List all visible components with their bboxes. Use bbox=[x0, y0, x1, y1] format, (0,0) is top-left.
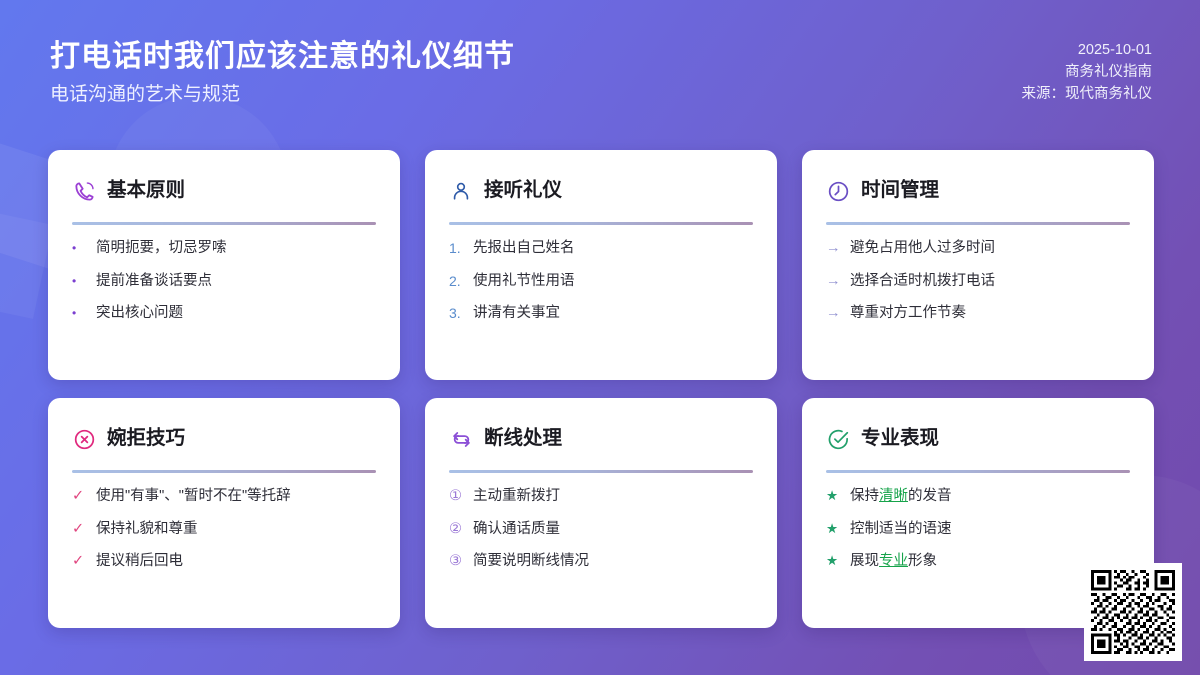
list-text: 提议稍后回电 bbox=[96, 552, 183, 572]
list-text: 讲清有关事宜 bbox=[473, 304, 560, 324]
list-item: •简明扼要，切忌罗嗦 bbox=[72, 239, 376, 259]
qr-code[interactable] bbox=[1084, 563, 1182, 661]
list-item: ②确认通话质量 bbox=[449, 520, 753, 540]
list-marker: ★ bbox=[826, 552, 841, 570]
card-grid: 基本原则 •简明扼要，切忌罗嗦 •提前准备谈话要点 •突出核心问题 接听礼仪 bbox=[48, 150, 1154, 628]
list-text: 选择合适时机拨打电话 bbox=[850, 272, 995, 292]
list-text: 使用"有事"、"暂时不在"等托辞 bbox=[96, 487, 291, 507]
list-marker: ✓ bbox=[72, 487, 87, 507]
list-item: 1.先报出自己姓名 bbox=[449, 239, 753, 259]
list-marker: ★ bbox=[826, 487, 841, 505]
list-text: 保持礼貌和尊重 bbox=[96, 520, 198, 540]
page-title: 打电话时我们应该注意的礼仪细节 bbox=[50, 38, 515, 76]
list-marker: • bbox=[72, 239, 87, 258]
list-item: ①主动重新拨打 bbox=[449, 487, 753, 507]
list-text: 提前准备谈话要点 bbox=[96, 272, 212, 292]
card-title: 断线处理 bbox=[484, 429, 562, 449]
person-icon bbox=[449, 179, 473, 203]
decorative-square bbox=[0, 205, 53, 319]
list-item: →选择合适时机拨打电话 bbox=[826, 272, 1130, 292]
list-item: ③简要说明断线情况 bbox=[449, 552, 753, 572]
card-basic-principles[interactable]: 基本原则 •简明扼要，切忌罗嗦 •提前准备谈话要点 •突出核心问题 bbox=[48, 150, 400, 380]
list-marker: ★ bbox=[826, 520, 841, 538]
list-marker: • bbox=[72, 272, 87, 291]
list-item: →尊重对方工作节奏 bbox=[826, 304, 1130, 324]
header-meta: 2025-10-01 商务礼仪指南 来源：现代商务礼仪 bbox=[1022, 40, 1153, 105]
card-list: •简明扼要，切忌罗嗦 •提前准备谈话要点 •突出核心问题 bbox=[72, 239, 376, 337]
slide-header: 打电话时我们应该注意的礼仪细节 电话沟通的艺术与规范 2025-10-01 商务… bbox=[0, 0, 1200, 140]
highlighted-term: 专业 bbox=[879, 553, 908, 569]
list-item: 2.使用礼节性用语 bbox=[449, 272, 753, 292]
card-title: 婉拒技巧 bbox=[107, 429, 185, 449]
list-item: •提前准备谈话要点 bbox=[72, 272, 376, 292]
list-text: 突出核心问题 bbox=[96, 304, 183, 324]
list-item: •突出核心问题 bbox=[72, 304, 376, 324]
card-title: 基本原则 bbox=[107, 181, 185, 201]
card-title: 专业表现 bbox=[861, 429, 939, 449]
list-item: ★保持清晰的发音 bbox=[826, 487, 1130, 507]
card-divider bbox=[826, 470, 1130, 473]
card-title: 接听礼仪 bbox=[484, 181, 562, 201]
list-text: 使用礼节性用语 bbox=[473, 272, 575, 292]
card-polite-refusal[interactable]: 婉拒技巧 ✓使用"有事"、"暂时不在"等托辞 ✓保持礼貌和尊重 ✓提议稍后回电 bbox=[48, 398, 400, 628]
card-list: ✓使用"有事"、"暂时不在"等托辞 ✓保持礼貌和尊重 ✓提议稍后回电 bbox=[72, 487, 376, 585]
card-list: →避免占用他人过多时间 →选择合适时机拨打电话 →尊重对方工作节奏 bbox=[826, 239, 1130, 337]
header-date: 2025-10-01 bbox=[1022, 40, 1153, 62]
refresh-cycle-icon bbox=[449, 427, 473, 451]
list-item: ★控制适当的语速 bbox=[826, 520, 1130, 540]
list-text: 先报出自己姓名 bbox=[473, 239, 575, 259]
list-item: ✓提议稍后回电 bbox=[72, 552, 376, 572]
card-title: 时间管理 bbox=[861, 181, 939, 201]
card-list: 1.先报出自己姓名 2.使用礼节性用语 3.讲清有关事宜 bbox=[449, 239, 753, 337]
card-header: 断线处理 bbox=[449, 424, 753, 454]
list-marker: 1. bbox=[449, 239, 464, 258]
header-left: 打电话时我们应该注意的礼仪细节 电话沟通的艺术与规范 bbox=[50, 38, 515, 106]
x-circle-icon bbox=[72, 427, 96, 451]
list-marker: 2. bbox=[449, 272, 464, 291]
card-header: 专业表现 bbox=[826, 424, 1130, 454]
card-answering-etiquette[interactable]: 接听礼仪 1.先报出自己姓名 2.使用礼节性用语 3.讲清有关事宜 bbox=[425, 150, 777, 380]
list-marker: • bbox=[72, 304, 87, 323]
card-divider bbox=[449, 222, 753, 225]
list-text: 尊重对方工作节奏 bbox=[850, 304, 966, 324]
list-text: 简明扼要，切忌罗嗦 bbox=[96, 239, 227, 259]
card-header: 婉拒技巧 bbox=[72, 424, 376, 454]
header-source: 来源：现代商务礼仪 bbox=[1022, 84, 1153, 106]
page-subtitle: 电话沟通的艺术与规范 bbox=[50, 84, 515, 107]
card-divider bbox=[72, 470, 376, 473]
list-marker: ✓ bbox=[72, 520, 87, 540]
list-item: ✓使用"有事"、"暂时不在"等托辞 bbox=[72, 487, 376, 507]
list-text: 确认通话质量 bbox=[473, 520, 560, 540]
list-marker: → bbox=[826, 272, 841, 292]
list-text: 主动重新拨打 bbox=[473, 487, 560, 507]
list-marker: 3. bbox=[449, 304, 464, 323]
card-divider bbox=[72, 222, 376, 225]
slide-root: 打电话时我们应该注意的礼仪细节 电话沟通的艺术与规范 2025-10-01 商务… bbox=[0, 0, 1200, 675]
clock-icon bbox=[826, 179, 850, 203]
qr-code-image bbox=[1091, 570, 1175, 654]
header-guide: 商务礼仪指南 bbox=[1022, 62, 1153, 84]
list-marker: → bbox=[826, 239, 841, 259]
card-divider bbox=[826, 222, 1130, 225]
card-disconnection-handling[interactable]: 断线处理 ①主动重新拨打 ②确认通话质量 ③简要说明断线情况 bbox=[425, 398, 777, 628]
card-divider bbox=[449, 470, 753, 473]
list-text: 简要说明断线情况 bbox=[473, 552, 589, 572]
card-header: 接听礼仪 bbox=[449, 176, 753, 206]
card-time-management[interactable]: 时间管理 →避免占用他人过多时间 →选择合适时机拨打电话 →尊重对方工作节奏 bbox=[802, 150, 1154, 380]
list-marker: ① bbox=[449, 487, 464, 507]
check-circle-icon bbox=[826, 427, 850, 451]
list-item: 3.讲清有关事宜 bbox=[449, 304, 753, 324]
list-text: 控制适当的语速 bbox=[850, 520, 952, 540]
phone-icon bbox=[72, 179, 96, 203]
list-marker: ✓ bbox=[72, 552, 87, 572]
list-item: ✓保持礼貌和尊重 bbox=[72, 520, 376, 540]
list-text: 避免占用他人过多时间 bbox=[850, 239, 995, 259]
list-marker: → bbox=[826, 304, 841, 324]
list-marker: ② bbox=[449, 520, 464, 540]
list-text: 展现专业形象 bbox=[850, 552, 937, 572]
highlighted-term: 清晰 bbox=[879, 488, 908, 504]
list-text: 保持清晰的发音 bbox=[850, 487, 952, 507]
card-header: 时间管理 bbox=[826, 176, 1130, 206]
list-item: →避免占用他人过多时间 bbox=[826, 239, 1130, 259]
card-list: ①主动重新拨打 ②确认通话质量 ③简要说明断线情况 bbox=[449, 487, 753, 585]
card-header: 基本原则 bbox=[72, 176, 376, 206]
list-marker: ③ bbox=[449, 552, 464, 572]
